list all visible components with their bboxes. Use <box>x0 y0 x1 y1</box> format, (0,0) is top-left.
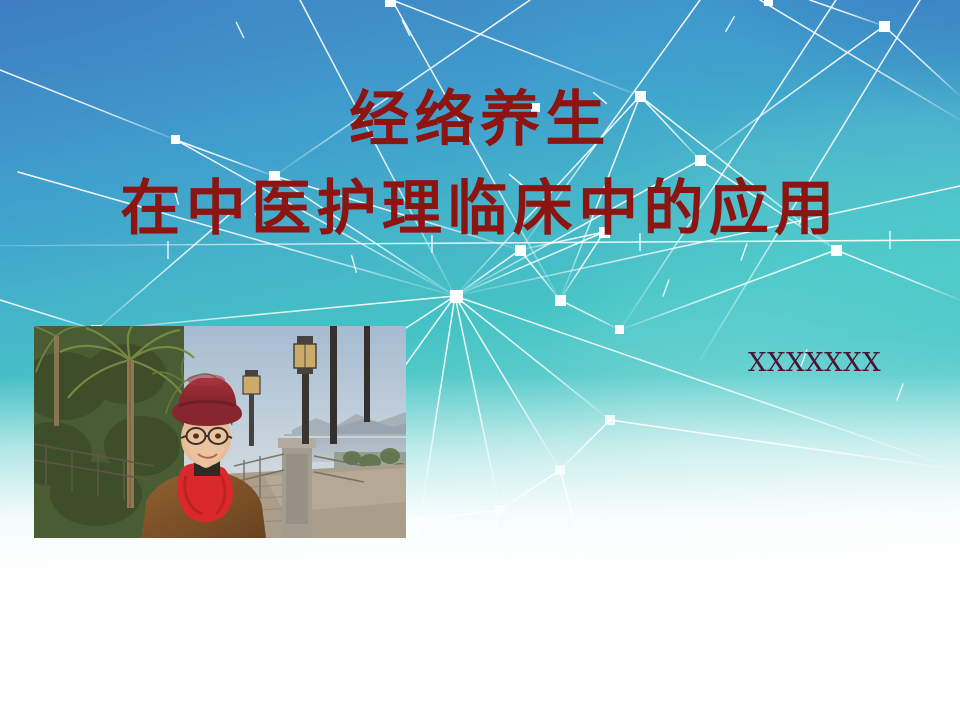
author-name: XXXXXXX <box>748 348 881 378</box>
title-line-1: 经络养生 <box>0 78 960 163</box>
title-line-2: 在中医护理临床中的应用 <box>0 167 960 252</box>
slide-title: 经络养生 在中医护理临床中的应用 <box>0 78 960 252</box>
title-slide: 经络养生 在中医护理临床中的应用 XXXXXXX <box>0 0 960 720</box>
speaker-photo <box>34 326 406 538</box>
